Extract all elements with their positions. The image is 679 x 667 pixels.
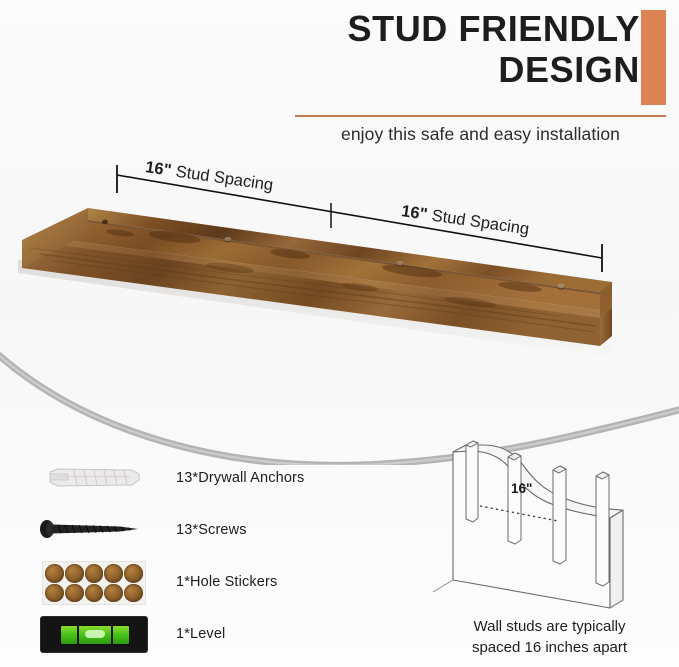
wall-stud-diagram: 16": [425, 440, 675, 620]
wall-stud: [553, 466, 566, 564]
list-item: 13*Drywall Anchors: [30, 452, 360, 504]
list-item-label: 1*Hole Stickers: [176, 574, 277, 590]
sticker-dot: [124, 564, 143, 583]
mounting-hole: [225, 237, 232, 242]
sticker-dot: [65, 564, 84, 583]
stud-caption-line-1: Wall studs are typically: [420, 616, 679, 637]
level-icon: [30, 611, 158, 657]
list-item-label: 13*Screws: [176, 522, 247, 538]
sticker-dot: [45, 564, 64, 583]
list-item-label: 13*Drywall Anchors: [176, 470, 304, 486]
hole-stickers-icon: [30, 559, 158, 605]
headline-line-1: STUD FRIENDLY: [300, 8, 640, 49]
list-item-label: 1*Level: [176, 626, 225, 642]
stud-measure-label: 16": [511, 481, 532, 496]
wall-stud: [596, 472, 609, 586]
accent-bar: [641, 10, 666, 105]
sticker-dot: [104, 584, 123, 603]
wall-stud: [466, 441, 478, 522]
infographic-page: STUD FRIENDLY DESIGN enjoy this safe and…: [0, 0, 679, 667]
mounting-hole: [102, 220, 108, 224]
level-body: [40, 616, 148, 653]
level-bubble: [85, 630, 105, 638]
sticker-dot: [45, 584, 64, 603]
page-title: STUD FRIENDLY DESIGN: [300, 8, 640, 90]
level-vial: [60, 625, 130, 645]
sticker-dot: [124, 584, 143, 603]
mounting-hole: [397, 261, 404, 266]
sticker-dot: [104, 564, 123, 583]
sticker-sheet: [42, 561, 146, 605]
screw-icon: [30, 507, 158, 553]
parts-list: 13*Drywall Anchors: [30, 452, 360, 660]
headline-line-2: DESIGN: [300, 49, 640, 90]
sticker-dot: [65, 584, 84, 603]
dimension-value-right: 16": [400, 202, 428, 224]
list-item: 1*Level: [30, 608, 360, 660]
dimension-value-left: 16": [144, 158, 172, 180]
sticker-dot: [85, 564, 104, 583]
mounting-hole: [557, 284, 564, 290]
stud-diagram-caption: Wall studs are typically spaced 16 inche…: [420, 616, 679, 659]
list-item: 1*Hole Stickers: [30, 556, 360, 608]
wall-stud: [508, 453, 521, 544]
sticker-dot: [85, 584, 104, 603]
header-divider-rule: [295, 115, 666, 117]
list-item: 13*Screws: [30, 504, 360, 556]
stud-caption-line-2: spaced 16 inches apart: [420, 637, 679, 658]
drywall-anchor-icon: [30, 455, 158, 501]
